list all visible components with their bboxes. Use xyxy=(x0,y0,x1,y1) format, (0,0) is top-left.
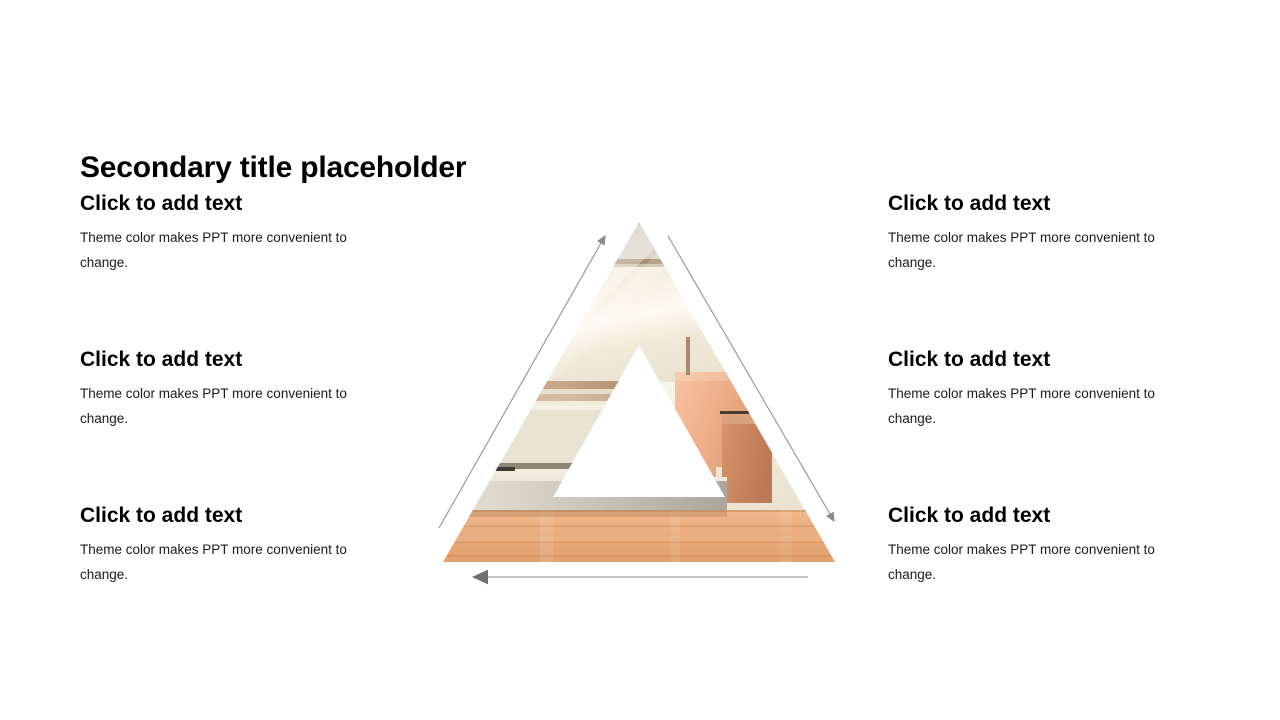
text-block-body[interactable]: Theme color makes PPT more convenient to… xyxy=(80,225,385,275)
text-block-right-3[interactable]: Click to add text Theme color makes PPT … xyxy=(888,503,1218,587)
text-block-body[interactable]: Theme color makes PPT more convenient to… xyxy=(80,537,385,587)
text-block-body[interactable]: Theme color makes PPT more convenient to… xyxy=(80,381,385,431)
text-block-left-2[interactable]: Click to add text Theme color makes PPT … xyxy=(80,347,410,431)
text-block-body[interactable]: Theme color makes PPT more convenient to… xyxy=(888,381,1193,431)
text-block-right-1[interactable]: Click to add text Theme color makes PPT … xyxy=(888,191,1218,275)
text-block-heading[interactable]: Click to add text xyxy=(888,503,1218,529)
text-block-heading[interactable]: Click to add text xyxy=(80,191,410,217)
slide-canvas: Secondary title placeholder Click to add… xyxy=(0,0,1280,720)
text-block-left-3[interactable]: Click to add text Theme color makes PPT … xyxy=(80,503,410,587)
text-block-heading[interactable]: Click to add text xyxy=(80,347,410,373)
text-block-heading[interactable]: Click to add text xyxy=(888,191,1218,217)
page-title: Secondary title placeholder xyxy=(80,151,466,185)
text-block-heading[interactable]: Click to add text xyxy=(888,347,1218,373)
text-block-body[interactable]: Theme color makes PPT more convenient to… xyxy=(888,537,1193,587)
text-block-body[interactable]: Theme color makes PPT more convenient to… xyxy=(888,225,1193,275)
triangle-masked-photo xyxy=(420,205,860,600)
text-block-heading[interactable]: Click to add text xyxy=(80,503,410,529)
text-block-right-2[interactable]: Click to add text Theme color makes PPT … xyxy=(888,347,1218,431)
center-triangle-graphic[interactable] xyxy=(420,205,860,600)
text-block-left-1[interactable]: Click to add text Theme color makes PPT … xyxy=(80,191,410,275)
